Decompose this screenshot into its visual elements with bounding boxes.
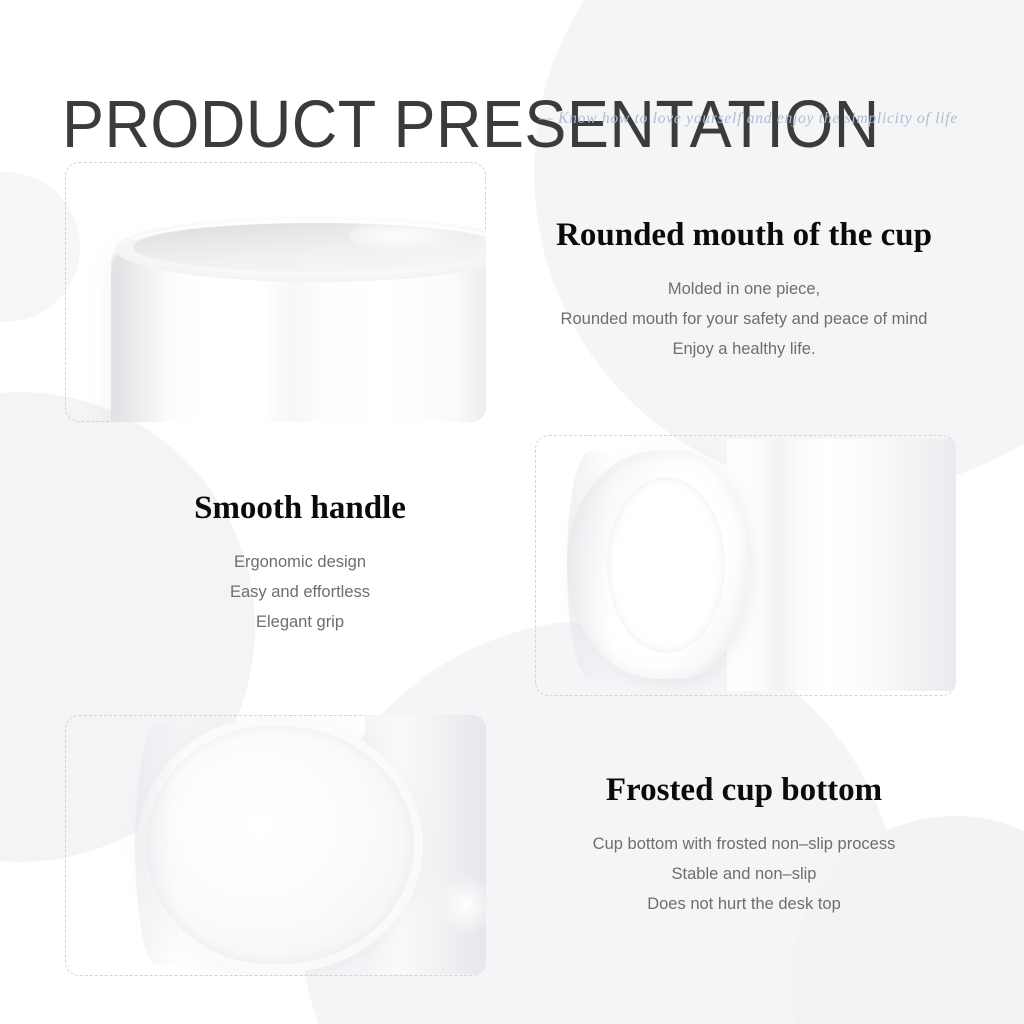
mug-bottom-illustration (65, 715, 484, 974)
photo-card-smooth-handle (535, 435, 956, 696)
feature-heading: Frosted cup bottom (504, 771, 984, 809)
feature-heading: Rounded mouth of the cup (504, 216, 984, 254)
feature-line: Cup bottom with frosted non–slip process (504, 829, 984, 859)
feature-text-smooth-handle: Smooth handle Ergonomic design Easy and … (60, 489, 540, 637)
photo-card-rounded-mouth (65, 162, 486, 422)
mug-bottom-shading (135, 725, 179, 965)
mug-rim-illustration (111, 216, 486, 422)
feature-line: Elegant grip (60, 607, 540, 637)
feature-line: Easy and effortless (60, 577, 540, 607)
mug-handle-illustration (545, 439, 955, 691)
mug-bottom-photo (65, 715, 486, 976)
mug-handle-opening (607, 477, 725, 653)
feature-line: Enjoy a healthy life. (504, 334, 984, 364)
mug-left-shading (111, 244, 169, 422)
mug-wall-shape (727, 439, 956, 691)
mug-bottom-gloss (437, 875, 486, 935)
mug-bottom-rim-ring (137, 717, 423, 973)
feature-description: Molded in one piece, Rounded mouth for y… (504, 274, 984, 364)
feature-line: Rounded mouth for your safety and peace … (504, 304, 984, 334)
mug-rim-photo (65, 162, 486, 422)
photo-card-frosted-bottom (65, 715, 486, 976)
mug-handle-photo (535, 435, 956, 696)
feature-line: Ergonomic design (60, 547, 540, 577)
feature-text-frosted-bottom: Frosted cup bottom Cup bottom with frost… (504, 771, 984, 919)
feature-description: Ergonomic design Easy and effortless Ele… (60, 547, 540, 637)
feature-text-rounded-mouth: Rounded mouth of the cup Molded in one p… (504, 216, 984, 364)
product-presentation-page: PRODUCT PRESENTATION — Know how to love … (0, 0, 1024, 1024)
mug-rim-gloss-highlight (349, 218, 469, 252)
feature-line: Does not hurt the desk top (504, 889, 984, 919)
feature-line: Molded in one piece, (504, 274, 984, 304)
feature-description: Cup bottom with frosted non–slip process… (504, 829, 984, 919)
page-subtitle: — Know how to love yourself and enjoy th… (539, 110, 958, 128)
feature-heading: Smooth handle (60, 489, 540, 527)
feature-line: Stable and non–slip (504, 859, 984, 889)
